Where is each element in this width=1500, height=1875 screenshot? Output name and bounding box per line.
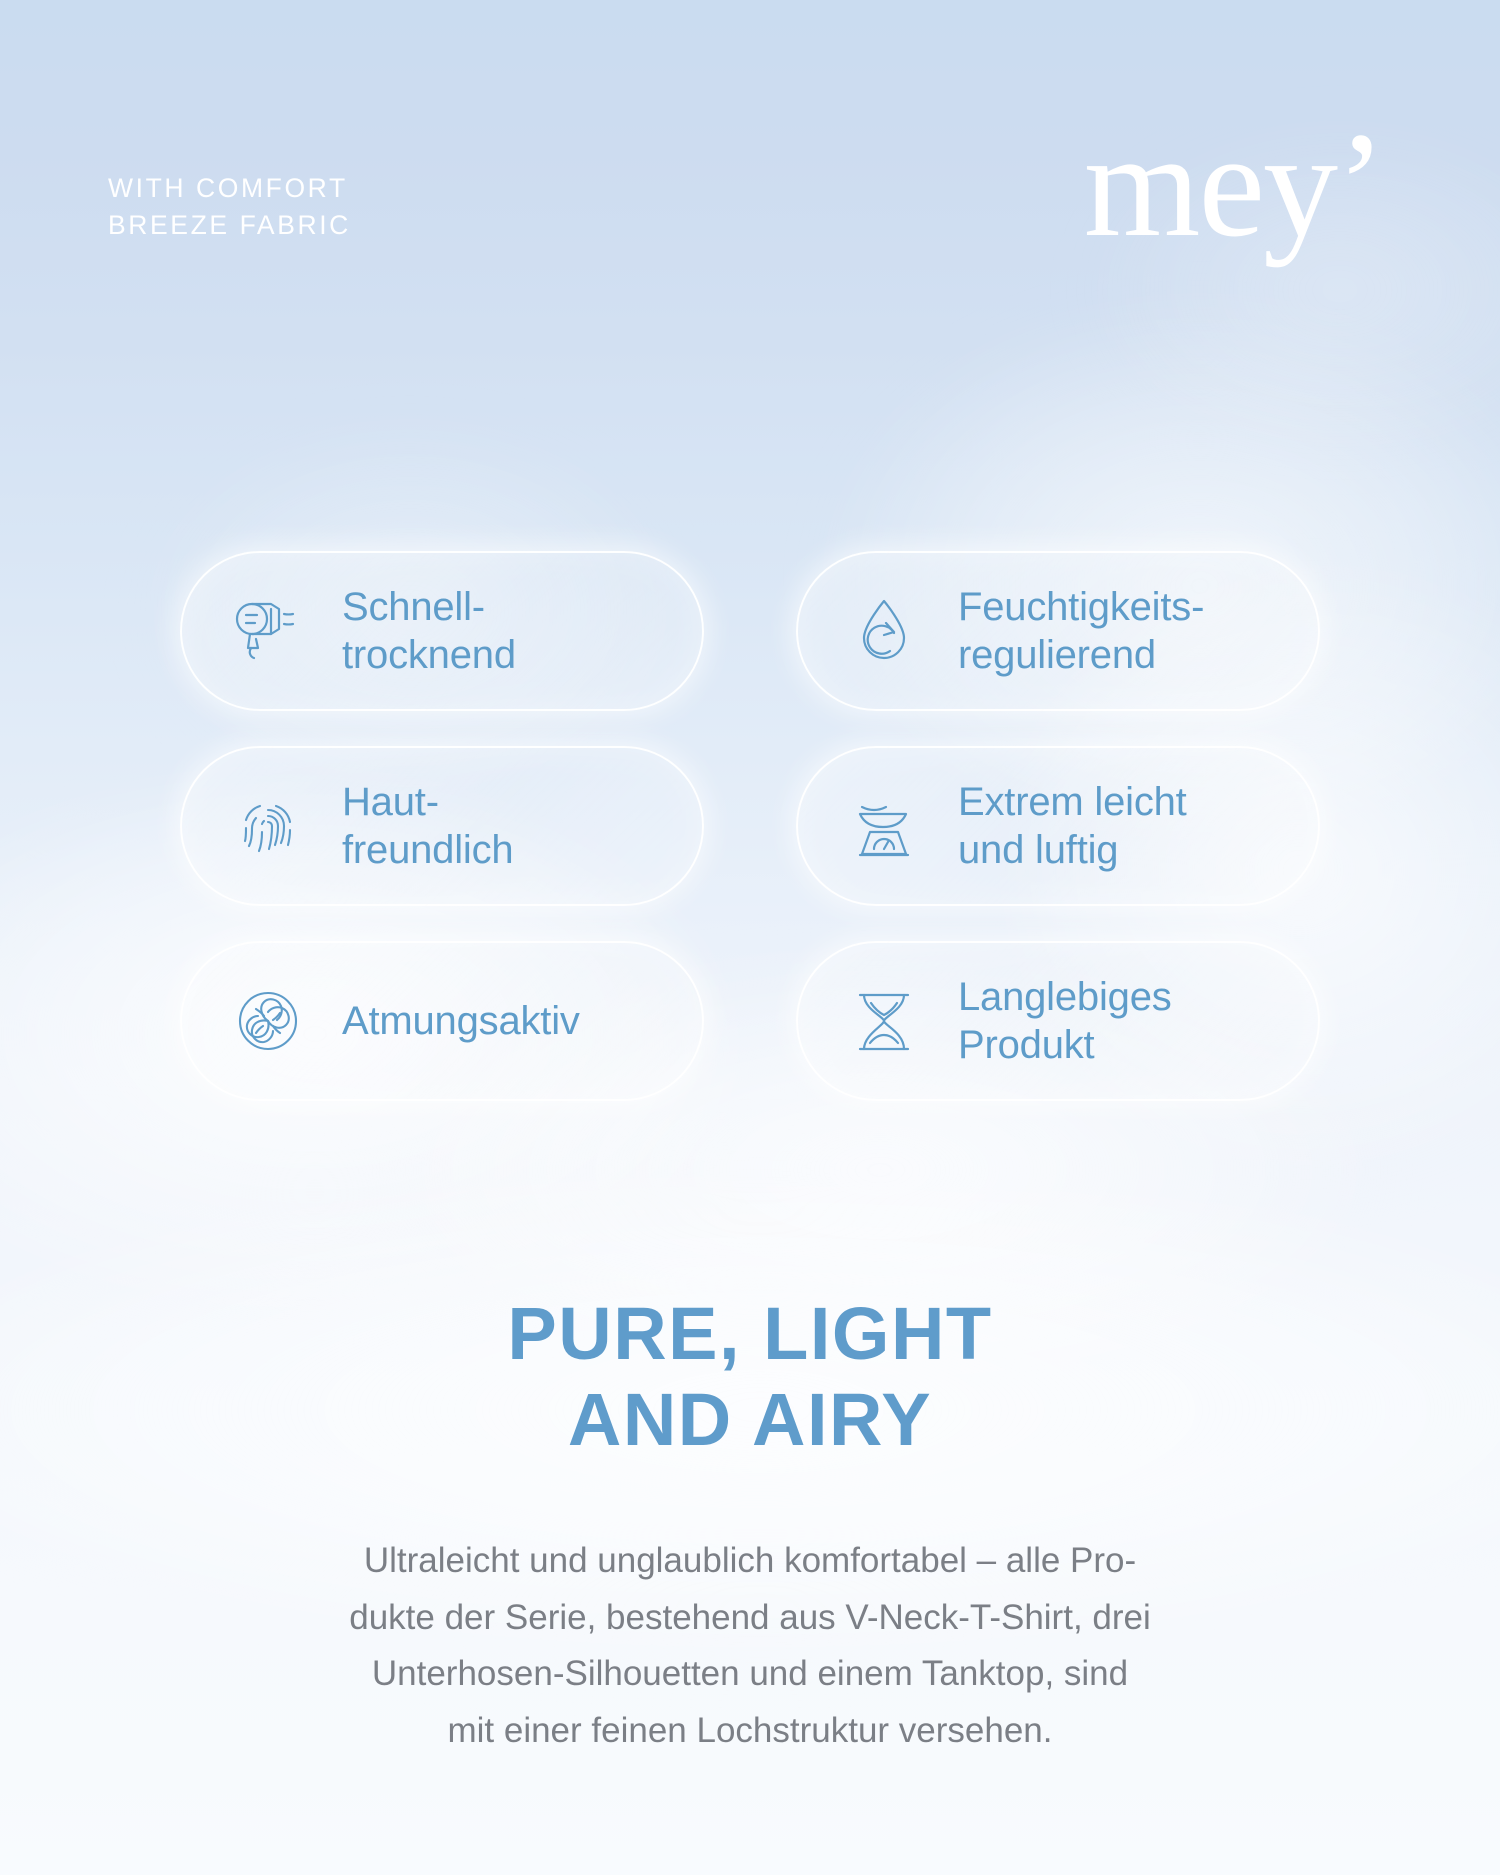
feature-list: Schnell- trocknend Feuchtigkeits- reguli… xyxy=(180,551,1320,1101)
feature-pill-langlebiges-produkt[interactable]: Langlebiges Produkt xyxy=(796,941,1320,1101)
feature-pill-extrem-leicht[interactable]: Extrem leicht und luftig xyxy=(796,746,1320,906)
feature-pill-hautfreundlich[interactable]: Haut- freundlich xyxy=(180,746,704,906)
page-title: PURE, LIGHT AND AIRY xyxy=(0,1291,1500,1463)
feature-pill-schnelltrocknend[interactable]: Schnell- trocknend xyxy=(180,551,704,711)
kitchen-scale-icon xyxy=(846,788,922,864)
hourglass-icon xyxy=(846,983,922,1059)
feature-label: Feuchtigkeits- regulierend xyxy=(958,583,1204,679)
mey-logo: mey’ xyxy=(1084,130,1384,241)
feature-label: Schnell- trocknend xyxy=(342,583,516,679)
page-header: WITH COMFORT BREEZE FABRIC mey’ xyxy=(0,0,1500,300)
water-drop-recycle-icon xyxy=(846,593,922,669)
feature-pill-atmungsaktiv[interactable]: Atmungsaktiv xyxy=(180,941,704,1101)
promo-page: WITH COMFORT BREEZE FABRIC mey’ Schnell-… xyxy=(0,0,1500,1875)
feature-label: Haut- freundlich xyxy=(342,778,513,874)
fan-ventilation-icon xyxy=(230,983,306,1059)
feature-pill-feuchtigkeitsregulierend[interactable]: Feuchtigkeits- regulierend xyxy=(796,551,1320,711)
hair-dryer-icon xyxy=(230,593,306,669)
body-copy: Ultraleicht und unglaublich komfortabel … xyxy=(232,1533,1268,1760)
feature-label: Atmungsaktiv xyxy=(342,997,580,1045)
feature-label: Langlebiges Produkt xyxy=(958,973,1172,1069)
eyebrow-text: WITH COMFORT BREEZE FABRIC xyxy=(108,170,351,243)
fingerprint-icon xyxy=(230,788,306,864)
feature-label: Extrem leicht und luftig xyxy=(958,778,1187,874)
